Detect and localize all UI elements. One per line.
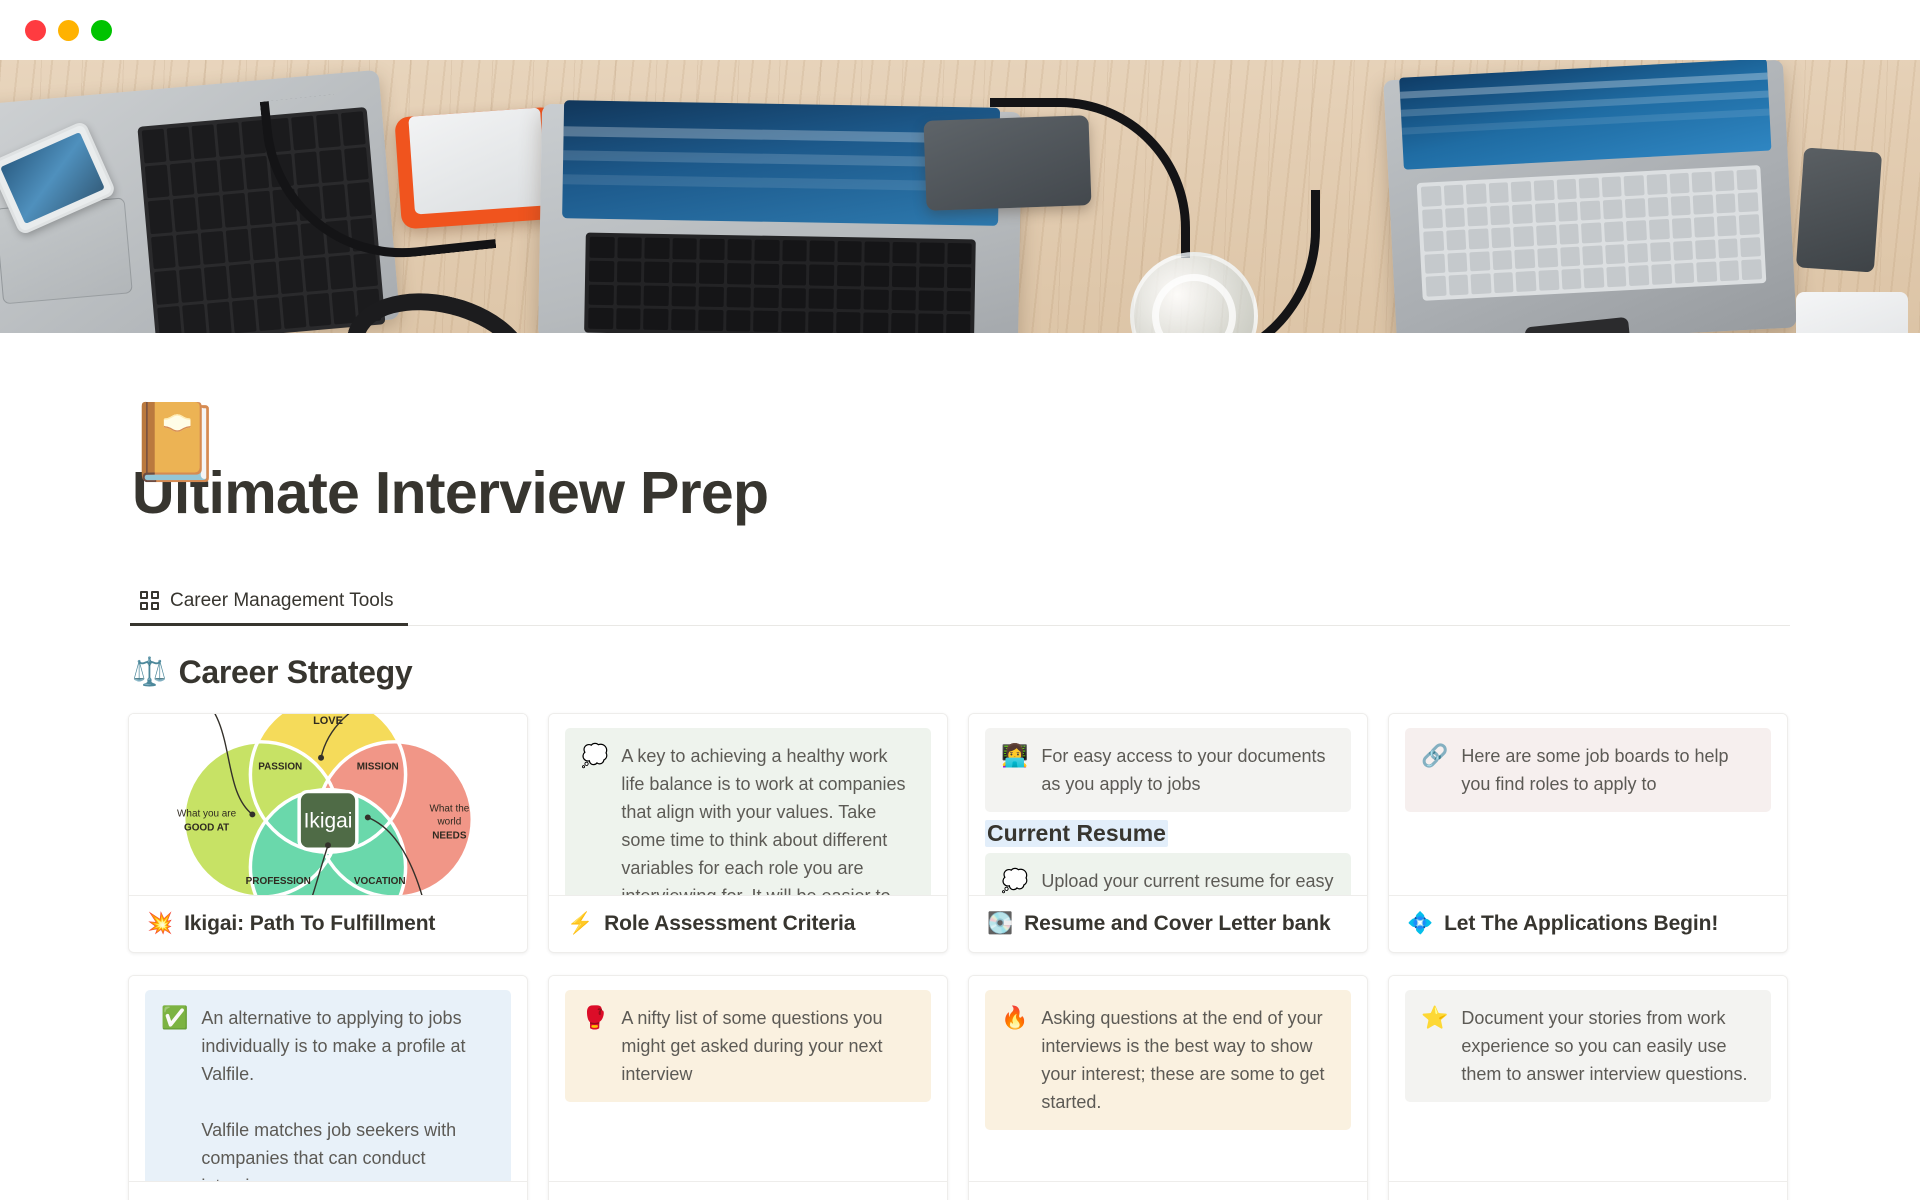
- keyboard-right: [1417, 165, 1767, 301]
- svg-text:world: world: [437, 816, 462, 827]
- thought-balloon-icon: 💭: [1001, 867, 1028, 895]
- diamond-with-dot-icon: 💠: [1407, 913, 1433, 934]
- link-icon: 🔗: [1421, 742, 1448, 798]
- window-minimize-button[interactable]: [58, 20, 79, 41]
- white-adapter: [1796, 292, 1908, 333]
- sub-heading-current-resume: Current Resume: [985, 820, 1168, 847]
- card-label-text: Resume and Cover Letter bank: [1024, 912, 1330, 936]
- callout-block: 💭 Upload your current resume for easy ac…: [985, 853, 1351, 895]
- laptop-right: [1383, 60, 1796, 333]
- svg-text:What the: What the: [429, 803, 469, 814]
- card-role-assessment-criteria[interactable]: 💭 A key to achieving a healthy work life…: [548, 713, 948, 953]
- card-grid: Ikigai LOVE PASSION MISSION PROFESSION V…: [128, 713, 1920, 1200]
- grid-icon: [140, 591, 159, 610]
- tab-career-management-tools[interactable]: Career Management Tools: [130, 590, 408, 625]
- orange-external-drive: [394, 107, 561, 230]
- card-valfile-profile[interactable]: ✅ An alternative to applying to jobs ind…: [128, 975, 528, 1200]
- callout-block: 🔗 Here are some job boards to help you f…: [1405, 728, 1771, 812]
- svg-text:GOOD AT: GOOD AT: [184, 822, 229, 833]
- page-title: Ultimate Interview Prep: [132, 461, 1920, 526]
- svg-text:NEEDS: NEEDS: [432, 830, 467, 841]
- svg-text:LOVE: LOVE: [313, 715, 343, 727]
- boxing-glove-icon: 🥊: [581, 1004, 608, 1088]
- callout-text: Asking questions at the end of your inte…: [1041, 1004, 1335, 1116]
- card-let-the-applications-begin[interactable]: 🔗 Here are some job boards to help you f…: [1388, 713, 1788, 953]
- card-questions-to-ask[interactable]: 🔥 Asking questions at the end of your in…: [968, 975, 1368, 1200]
- window-close-button[interactable]: [25, 20, 46, 41]
- card-preview: 🔗 Here are some job boards to help you f…: [1389, 714, 1787, 895]
- check-mark-button-icon: ✅: [161, 1004, 188, 1181]
- window-maximize-button[interactable]: [91, 20, 112, 41]
- high-voltage-icon: ⚡: [567, 913, 593, 934]
- page-icon[interactable]: 📔: [128, 399, 216, 487]
- callout-block: 👩‍💻 For easy access to your documents as…: [985, 728, 1351, 812]
- card-label: 💥 Ikigai: Path To Fulfillment: [129, 895, 527, 952]
- callout-text: An alternative to applying to jobs indiv…: [201, 1004, 495, 1181]
- card-label-text: Ikigai: Path To Fulfillment: [184, 912, 435, 936]
- card-label-text: Role Assessment Criteria: [604, 912, 855, 936]
- callout-text: Here are some job boards to help you fin…: [1461, 742, 1755, 798]
- callout-block: ✅ An alternative to applying to jobs ind…: [145, 990, 511, 1181]
- card-label: 💠 Let The Applications Begin!: [1389, 895, 1787, 952]
- callout-block: ⭐ Document your stories from work experi…: [1405, 990, 1771, 1102]
- page-cover-image[interactable]: [0, 60, 1920, 333]
- callout-block: 🔥 Asking questions at the end of your in…: [985, 990, 1351, 1130]
- card-resume-and-cover-letter-bank[interactable]: 👩‍💻 For easy access to your documents as…: [968, 713, 1368, 953]
- window-titlebar: [0, 0, 1920, 60]
- card-preview: 💭 A key to achieving a healthy work life…: [549, 714, 947, 895]
- tab-bar: Career Management Tools: [130, 590, 1790, 626]
- card-label-text: Let The Applications Begin!: [1444, 912, 1718, 936]
- star-icon: ⭐: [1421, 1004, 1448, 1088]
- laptop-right-screen: [1399, 60, 1771, 170]
- callout-text: For easy access to your documents as you…: [1041, 742, 1335, 798]
- svg-text:What you are: What you are: [177, 808, 237, 819]
- card-label: [1389, 1181, 1787, 1200]
- computer-disk-icon: 💽: [987, 913, 1013, 934]
- callout-block: 💭 A key to achieving a healthy work life…: [565, 728, 931, 895]
- callout-text: Upload your current resume for easy acce…: [1041, 867, 1335, 895]
- callout-text: A key to achieving a healthy work life b…: [621, 742, 915, 895]
- svg-text:PASSION: PASSION: [258, 762, 302, 773]
- section-heading-career-strategy: ⚖️ Career Strategy: [132, 654, 1920, 691]
- card-preview: ⭐ Document your stories from work experi…: [1389, 976, 1787, 1181]
- card-label: [969, 1181, 1367, 1200]
- card-label: ⚡ Role Assessment Criteria: [549, 895, 947, 952]
- card-label: 💽 Resume and Cover Letter bank: [969, 895, 1367, 952]
- card-preview: ✅ An alternative to applying to jobs ind…: [129, 976, 527, 1181]
- svg-text:PROFESSION: PROFESSION: [246, 876, 311, 887]
- section-heading-label: Career Strategy: [179, 654, 413, 691]
- card-preview: 🔥 Asking questions at the end of your in…: [969, 976, 1367, 1181]
- keyboard-center: [584, 233, 976, 333]
- svg-text:VOCATION: VOCATION: [354, 876, 406, 887]
- ikigai-venn-diagram: Ikigai LOVE PASSION MISSION PROFESSION V…: [129, 714, 527, 895]
- card-preview: Ikigai LOVE PASSION MISSION PROFESSION V…: [129, 714, 527, 895]
- card-interview-questions-list[interactable]: 🥊 A nifty list of some questions you mig…: [548, 975, 948, 1200]
- card-preview: 👩‍💻 For easy access to your documents as…: [969, 714, 1367, 895]
- card-preview: 🥊 A nifty list of some questions you mig…: [549, 976, 947, 1181]
- callout-block: 🥊 A nifty list of some questions you mig…: [565, 990, 931, 1102]
- tab-label: Career Management Tools: [170, 590, 394, 612]
- usb-hub: [1796, 147, 1882, 272]
- collision-icon: 💥: [147, 913, 173, 934]
- thought-balloon-icon: 💭: [581, 742, 608, 895]
- balance-scale-icon: ⚖️: [132, 658, 167, 686]
- callout-text: Document your stories from work experien…: [1461, 1004, 1755, 1088]
- card-story-bank[interactable]: ⭐ Document your stories from work experi…: [1388, 975, 1788, 1200]
- card-label: [549, 1181, 947, 1200]
- svg-text:MISSION: MISSION: [357, 762, 399, 773]
- woman-technologist-icon: 👩‍💻: [1001, 742, 1028, 798]
- card-label: [129, 1181, 527, 1200]
- fire-icon: 🔥: [1001, 1004, 1028, 1116]
- ikigai-center-label: Ikigai: [304, 809, 353, 832]
- desk-photo: [0, 60, 1920, 333]
- card-ikigai[interactable]: Ikigai LOVE PASSION MISSION PROFESSION V…: [128, 713, 528, 953]
- page-body: 📔 Ultimate Interview Prep Career Managem…: [0, 461, 1920, 1200]
- callout-text: A nifty list of some questions you might…: [621, 1004, 915, 1088]
